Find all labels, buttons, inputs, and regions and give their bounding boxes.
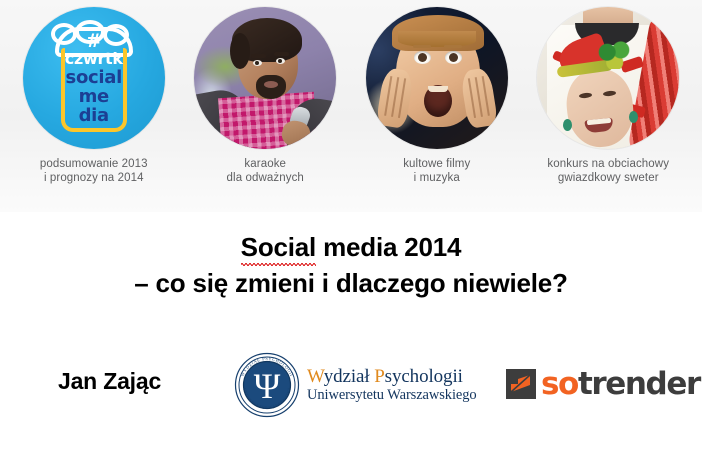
eyebrow-shape bbox=[251, 54, 266, 58]
title-line-2: – co się zmieni i dlaczego niewiele? bbox=[0, 266, 702, 301]
speaker-with-microphone-photo bbox=[194, 7, 336, 149]
eyebrow-shape bbox=[274, 52, 289, 56]
banner-tile-caption: konkurs na obciachowy gwiazdkowy sweter bbox=[547, 158, 669, 185]
banner-tile-caption: karaoke dla odważnych bbox=[227, 158, 304, 185]
sotrender-logo: sotrender bbox=[506, 369, 700, 399]
uw-logo-text: Wydział Psychologii Uniwersytetu Warszaw… bbox=[307, 367, 477, 403]
uw-university-line: Uniwersytetu Warszawskiego bbox=[307, 388, 477, 403]
misspelled-word: Social bbox=[241, 230, 316, 266]
uw-seal-icon: WYDZIAŁ PSYCHOLOGII UNIWERSYTET WARSZAWS… bbox=[234, 352, 300, 418]
sotrender-wordmark: sotrender bbox=[541, 369, 700, 399]
eyebrow-shape bbox=[444, 45, 462, 48]
eye-shape bbox=[445, 51, 462, 64]
banner-tile: karaoke dla odważnych bbox=[181, 0, 349, 185]
uw-cap-p: P bbox=[374, 366, 384, 387]
beer-glass-shape: czwrtk social me dia bbox=[61, 48, 127, 132]
uw-word-psychologii: sychologii bbox=[385, 366, 463, 387]
banner-tile: kultowe filmy i muzyka bbox=[353, 0, 521, 185]
logo-text-czwrtk: czwrtk bbox=[65, 51, 123, 67]
home-alone-boy-screaming-photo bbox=[366, 7, 508, 149]
author-name: Jan Zając bbox=[58, 368, 161, 395]
hand-shape bbox=[375, 67, 414, 129]
event-banner-image: # czwrtk social me dia podsumowanie 2013… bbox=[0, 0, 702, 212]
logo-text-social: social bbox=[66, 69, 122, 87]
uw-word-wydzial: ydział bbox=[324, 366, 374, 387]
banner-tile-caption: kultowe filmy i muzyka bbox=[403, 158, 470, 185]
svg-text:Ψ: Ψ bbox=[254, 366, 281, 406]
upward-trend-arrow-icon bbox=[506, 369, 536, 399]
slide-title: Social media 2014 – co się zmieni i dlac… bbox=[0, 230, 702, 301]
sotrender-so: so bbox=[541, 366, 578, 402]
slide-footer: Jan Zając WYDZIAŁ PSYCHOLOGII UNIWERSYTE… bbox=[0, 352, 702, 424]
title-line-1-rest: media 2014 bbox=[316, 232, 461, 262]
title-line-1: Social media 2014 bbox=[0, 230, 702, 266]
hashtag-icon: # bbox=[86, 31, 102, 51]
eyebrow-shape bbox=[413, 45, 431, 48]
hair-shape bbox=[398, 31, 476, 47]
holly-leaves-icon bbox=[597, 41, 631, 69]
logo-text-dia: dia bbox=[79, 107, 109, 125]
teeth-shape bbox=[428, 86, 448, 92]
banner-tile-caption: podsumowanie 2013 i prognozy na 2014 bbox=[40, 158, 148, 185]
eye-shape bbox=[414, 51, 431, 64]
beer-foam-bump-icon bbox=[103, 24, 129, 46]
uw-cap-w: W bbox=[307, 366, 324, 387]
banner-tile: konkurs na obciachowy gwiazdkowy sweter bbox=[524, 0, 692, 185]
beer-foam-bump-icon bbox=[51, 23, 77, 45]
uw-faculty-line: Wydział Psychologii bbox=[307, 367, 477, 387]
logo-text-me: me bbox=[79, 88, 109, 106]
hand-shape bbox=[459, 67, 498, 129]
banner-tile: # czwrtk social me dia podsumowanie 2013… bbox=[10, 0, 178, 185]
woman-in-ugly-christmas-sweater-photo bbox=[537, 7, 679, 149]
sotrender-trender: trender bbox=[578, 366, 700, 402]
czwartek-social-media-logo: # czwrtk social me dia bbox=[23, 7, 165, 149]
uw-psychology-logo: WYDZIAŁ PSYCHOLOGII UNIWERSYTET WARSZAWS… bbox=[234, 352, 477, 418]
